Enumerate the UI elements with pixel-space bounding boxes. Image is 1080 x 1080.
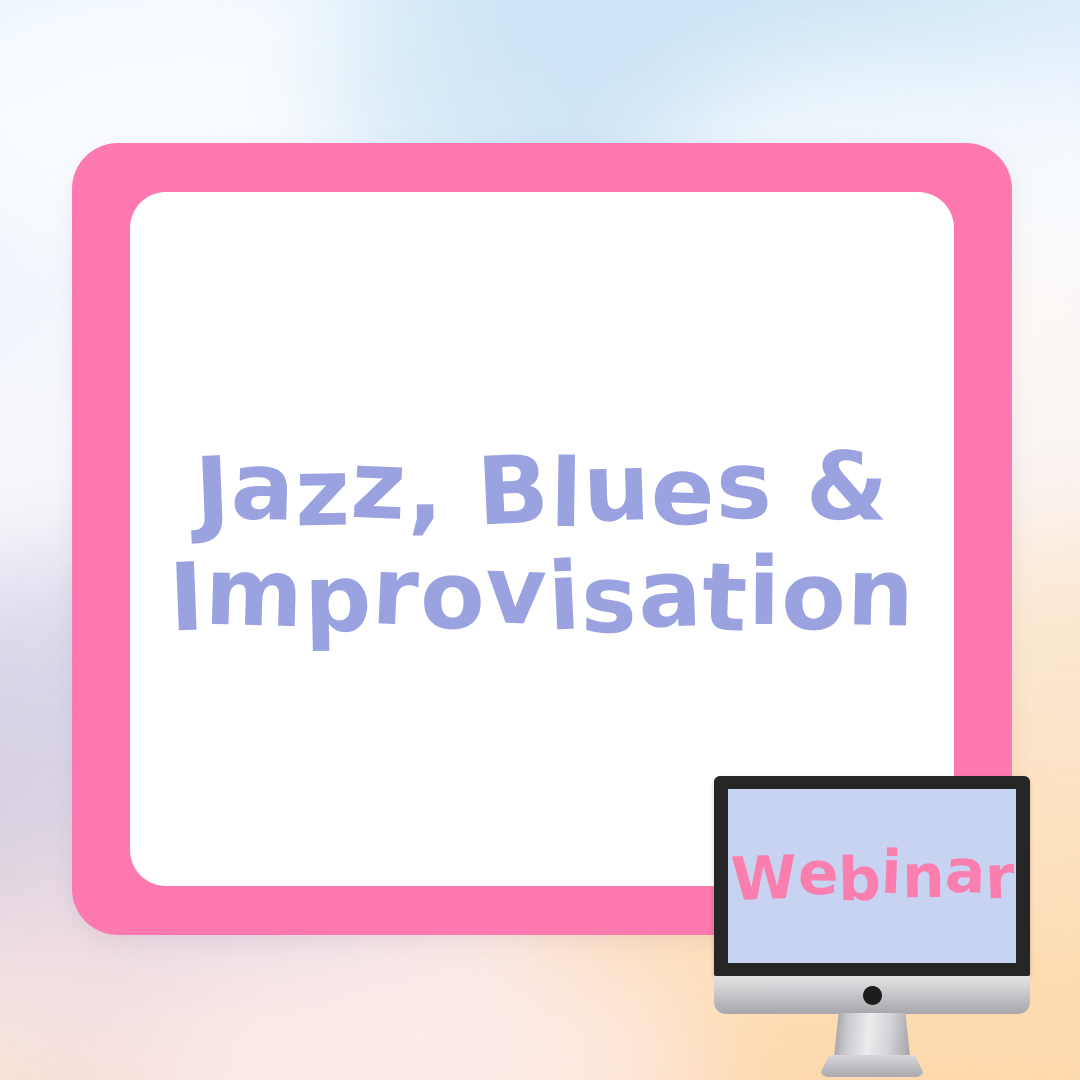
monitor-screen: Webinar (728, 789, 1016, 963)
monitor-logo-dot (863, 986, 882, 1005)
monitor-illustration: Webinar (712, 776, 1032, 1080)
poster-canvas: Jazz, Blues & Improvisation Webinar (0, 0, 1080, 1080)
monitor-stand-neck (834, 1013, 910, 1057)
monitor-stand-base (820, 1055, 924, 1077)
monitor-bezel: Webinar (714, 776, 1030, 976)
screen-webinar-label: Webinar (728, 789, 1016, 963)
